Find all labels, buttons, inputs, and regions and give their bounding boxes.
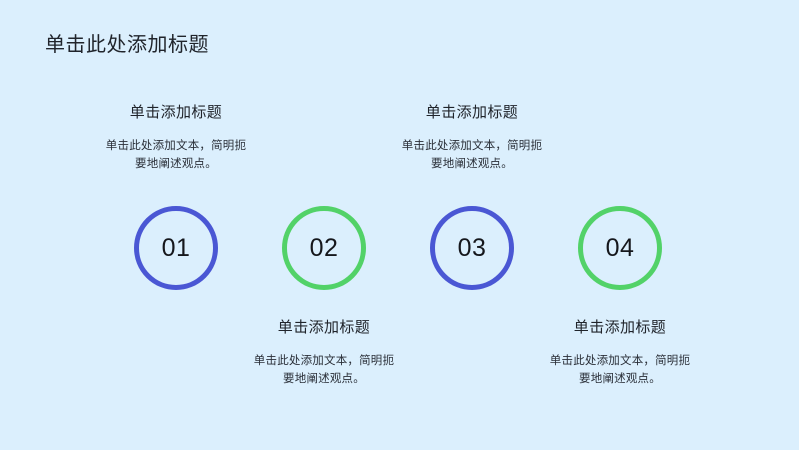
step-circle-02[interactable]: 02 [282, 206, 366, 290]
step-number-02: 02 [310, 236, 339, 261]
slide-canvas: 单击此处添加标题 单击添加标题 单击此处添加文本，简明扼要地阐述观点。 01 0… [0, 0, 799, 450]
step-circle-04[interactable]: 04 [578, 206, 662, 290]
step-circle-03[interactable]: 03 [430, 206, 514, 290]
step-circle-01[interactable]: 01 [134, 206, 218, 290]
step-body-04[interactable]: 单击此处添加文本，简明扼要地阐述观点。 [544, 352, 696, 388]
step-number-04: 04 [606, 236, 635, 261]
step-number-01: 01 [162, 236, 191, 261]
step-heading-04[interactable]: 单击添加标题 [520, 317, 720, 338]
step-number-03: 03 [458, 236, 487, 261]
step-item-04: 04 单击添加标题 单击此处添加文本，简明扼要地阐述观点。 [520, 0, 720, 450]
step-text-block-04: 单击添加标题 单击此处添加文本，简明扼要地阐述观点。 [520, 317, 720, 388]
